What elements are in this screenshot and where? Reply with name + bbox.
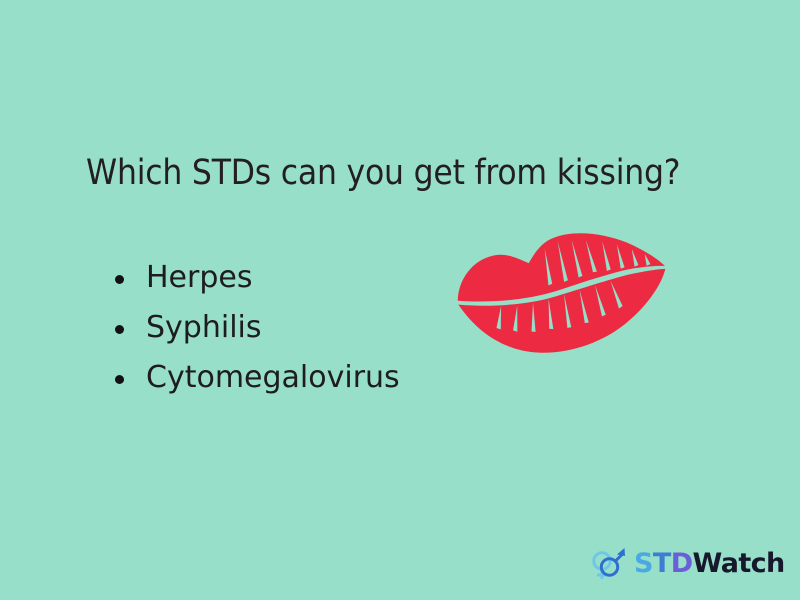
logo-letter-s: S xyxy=(634,550,653,577)
lips-kiss-illustration xyxy=(444,222,684,367)
list-item-label: Syphilis xyxy=(146,310,262,345)
logo-letter-t: T xyxy=(653,550,671,577)
list-item-label: Herpes xyxy=(146,260,252,295)
logo-wordmark: STDWatch xyxy=(634,550,785,577)
page-title: Which STDs can you get from kissing? xyxy=(86,152,726,194)
list-item: Cytomegalovirus xyxy=(112,354,400,404)
bullet-dot-icon xyxy=(115,275,124,284)
slide-canvas: Which STDs can you get from kissing? Her… xyxy=(0,0,800,600)
list-item: Syphilis xyxy=(112,304,400,354)
bullet-dot-icon xyxy=(115,375,124,384)
logo-letter-d: D xyxy=(671,550,693,577)
gender-symbols-icon xyxy=(588,542,630,584)
list-item-label: Cytomegalovirus xyxy=(146,360,400,395)
std-list: Herpes Syphilis Cytomegalovirus xyxy=(112,254,400,404)
bullet-dot-icon xyxy=(115,325,124,334)
list-item: Herpes xyxy=(112,254,400,304)
logo-word-watch: Watch xyxy=(693,550,785,577)
stdwatch-logo[interactable]: STDWatch xyxy=(588,541,785,585)
